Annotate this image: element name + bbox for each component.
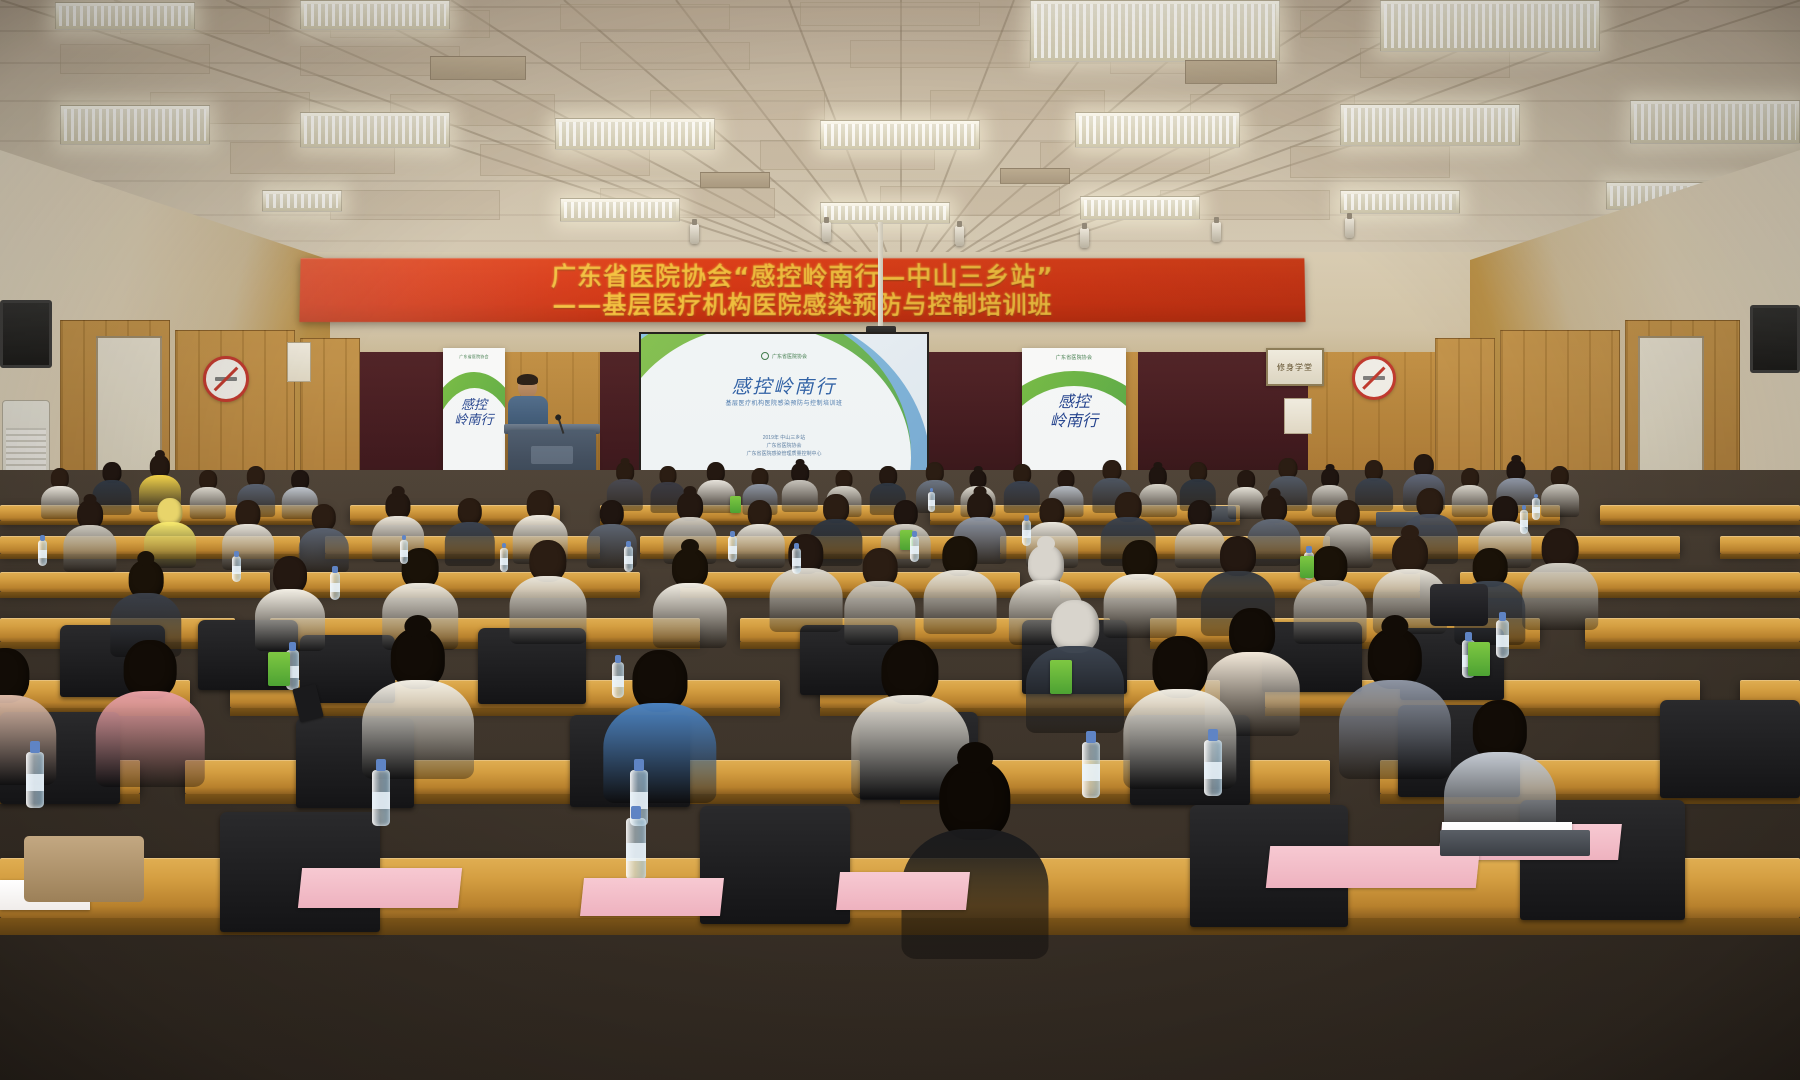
water-bottle <box>1082 742 1100 798</box>
bottle-label <box>928 500 935 506</box>
podium-emblem <box>531 446 573 464</box>
wall-monitor <box>1750 305 1800 373</box>
speaker-hair <box>517 374 538 385</box>
ceiling-vent <box>430 56 526 80</box>
spotlight <box>822 222 831 242</box>
person-torso <box>770 568 843 632</box>
bottle-label <box>624 556 633 564</box>
cigarette-icon <box>1363 376 1384 380</box>
ceiling-tile <box>580 42 750 70</box>
handout-paper[interactable] <box>298 868 462 908</box>
person-hair-bun <box>796 459 805 467</box>
screen-meta-2: 广东省医院协会 <box>746 442 821 450</box>
ceiling-light-panel <box>1380 0 1600 52</box>
bottle-cap <box>1024 515 1029 521</box>
desk <box>1720 536 1800 554</box>
screen-org-name: 广东省医院协会 <box>772 353 807 360</box>
juice-carton <box>268 652 290 686</box>
ceiling-light-panel <box>820 202 950 224</box>
person-hair-bun <box>974 466 983 473</box>
banner-line-1: 广东省医院协会“感控岭南行—中山三乡站” <box>551 264 1054 289</box>
spotlight <box>955 226 964 246</box>
bottle-label <box>1520 520 1528 527</box>
rollup-left-logo: 广东省医院协会 <box>459 354 488 360</box>
bottle-cap <box>234 551 239 557</box>
ceiling-light-panel <box>60 105 210 145</box>
wall-plaque: 修身学堂 <box>1266 348 1324 386</box>
water-bottle <box>1532 498 1540 520</box>
no-smoking-icon <box>1352 356 1396 400</box>
bottle-label <box>400 550 408 557</box>
main-red-banner: 广东省医院协会“感控岭南行—中山三乡站” ——基层医疗机构医院感染预防与控制培训… <box>299 258 1305 322</box>
bottle-cap <box>1208 729 1217 741</box>
water-bottle <box>1204 740 1222 796</box>
audience-member <box>1026 600 1124 740</box>
handout-paper[interactable] <box>836 872 970 910</box>
juice-carton <box>1050 660 1072 694</box>
person-torso <box>1541 484 1579 517</box>
bottle-cap <box>1499 612 1506 620</box>
desk-edge <box>1720 554 1800 559</box>
bottle-cap <box>634 759 643 771</box>
bottle-cap <box>332 566 337 572</box>
desk <box>1585 618 1800 642</box>
bottle-cap <box>730 531 735 537</box>
ceiling-light-panel <box>820 120 980 150</box>
laptop[interactable] <box>1440 830 1590 856</box>
bottle-cap <box>289 642 296 651</box>
water-bottle <box>1022 520 1031 546</box>
bottle-label <box>38 550 47 558</box>
bottle-label <box>728 546 737 554</box>
wall-monitor <box>0 300 52 368</box>
bottle-cap <box>631 806 641 820</box>
ceiling-vent <box>1000 168 1070 184</box>
juice-carton <box>1300 556 1314 578</box>
wall-notice <box>287 342 311 382</box>
bottle-label <box>1532 507 1540 514</box>
screen-meta-1: 2019年 中山三乡站 <box>746 434 821 442</box>
water-bottle <box>372 770 390 826</box>
water-bottle <box>928 492 935 512</box>
ceiling-tile <box>330 190 500 220</box>
person-hair-bun <box>137 551 154 566</box>
bottle-cap <box>1306 546 1311 552</box>
water-bottle <box>626 818 646 880</box>
rollup-right-title: 感控岭南行 <box>1050 392 1098 430</box>
ceiling-light-panel <box>1630 100 1800 144</box>
bottle-label <box>792 558 801 566</box>
ceiling-vent <box>700 172 770 188</box>
water-bottle <box>330 572 340 600</box>
bottle-cap <box>30 741 39 753</box>
audience-member <box>1522 528 1598 636</box>
water-bottle <box>1520 510 1528 534</box>
no-smoking-icon <box>203 356 249 402</box>
handbag[interactable] <box>24 836 144 902</box>
conference-hall-photo: 修身学堂 广东省医院协会“感控岭南行—中山三乡站” ——基层医疗机构医院感染预防… <box>0 0 1800 1080</box>
bottle-cap <box>1086 731 1095 743</box>
bottle-label <box>500 558 508 565</box>
desk-edge <box>1600 521 1800 525</box>
bottle-cap <box>626 541 631 547</box>
audience-member <box>653 548 727 654</box>
water-bottle <box>624 546 633 572</box>
banner-line-2: ——基层医疗机构医院感染预防与控制培训班 <box>552 292 1053 316</box>
chair[interactable] <box>1660 700 1800 798</box>
screen-org-logo: 广东省医院协会 <box>761 352 807 360</box>
water-bottle <box>612 662 624 698</box>
person-torso <box>844 581 915 644</box>
person-hair-bun <box>1268 488 1281 499</box>
water-bottle <box>500 548 508 572</box>
audience-member <box>96 640 205 795</box>
desk <box>300 572 640 592</box>
audience-member <box>1541 466 1579 520</box>
ceiling <box>0 0 1800 262</box>
person-hair-bun <box>957 742 993 772</box>
water-bottle <box>232 556 241 582</box>
water-bottle <box>400 540 408 564</box>
audience-member <box>255 556 325 656</box>
juice-carton <box>1468 642 1490 676</box>
screen-title: 感控岭南行 <box>731 372 836 399</box>
person-hair-bun <box>684 486 697 497</box>
desk-edge <box>300 592 640 598</box>
ceiling-light-panel <box>1030 0 1280 62</box>
audience-member <box>63 500 116 576</box>
bottle-label <box>1496 635 1509 646</box>
bottle-label <box>1022 530 1031 538</box>
juice-carton <box>730 496 741 513</box>
bottle-cap <box>1465 632 1472 640</box>
ceiling-vent <box>1185 60 1277 84</box>
person-torso <box>96 691 205 787</box>
bottle-label <box>1082 764 1100 781</box>
ceiling-tile <box>1360 48 1510 78</box>
ceiling-light-panel <box>555 118 715 150</box>
water-bottle <box>38 540 47 566</box>
wall-notice <box>1284 398 1312 434</box>
person-hair-bun <box>1511 455 1521 463</box>
spotlight <box>1212 222 1221 242</box>
ceiling-light-panel <box>1080 196 1200 220</box>
bottle-label <box>232 566 241 574</box>
bottle-cap <box>376 759 385 771</box>
cigarette-icon <box>215 377 237 381</box>
person-torso <box>1339 680 1451 779</box>
water-bottle <box>26 752 44 808</box>
desk <box>1600 505 1800 521</box>
bottle-label <box>1204 762 1222 779</box>
ceiling-light-panel <box>300 112 450 148</box>
bottle-cap <box>615 655 621 663</box>
ceiling-light-panel <box>1075 112 1240 148</box>
ceiling-light-panel <box>300 0 450 30</box>
association-logo-icon <box>761 352 769 360</box>
audience-member <box>510 540 587 650</box>
bottle-cap <box>912 531 917 537</box>
person-torso <box>1522 563 1598 630</box>
audience-member <box>902 760 1049 970</box>
bottle-cap <box>40 535 45 541</box>
water-bottle <box>1496 620 1509 658</box>
water-bottle <box>792 548 801 574</box>
person-torso <box>1026 646 1124 733</box>
desk-edge <box>1585 642 1800 649</box>
water-bottle <box>910 536 919 562</box>
bottle-label <box>26 774 44 791</box>
screen-meta-3: 广东省医院感染管理质量控制中心 <box>746 450 821 458</box>
person-hair-bun <box>155 450 165 459</box>
audience-member <box>770 534 843 638</box>
person-torso <box>63 525 116 572</box>
bottle-label <box>910 546 919 554</box>
screen-subtitle: 基层医疗机构医院感染预防与控制培训班 <box>725 398 842 407</box>
person-torso <box>653 583 727 649</box>
spotlight <box>1080 228 1089 248</box>
person-torso <box>603 703 716 803</box>
person-hair-bun <box>392 486 405 497</box>
person-hair-bun <box>974 486 987 497</box>
ceiling-light-panel <box>560 198 680 222</box>
person-hair-bun <box>1153 462 1162 470</box>
bottle-label <box>330 583 340 591</box>
ceiling-light-panel <box>1340 104 1520 146</box>
desk <box>185 760 860 794</box>
person-torso <box>510 576 587 644</box>
bottle-label <box>372 792 390 809</box>
ceiling-light-panel <box>1340 190 1460 214</box>
handout-paper[interactable] <box>580 878 724 916</box>
person-hair-bun <box>84 494 97 505</box>
ceiling-tile <box>850 40 1030 68</box>
person-hair-bun <box>1326 464 1335 472</box>
ceiling-tile <box>1290 146 1450 178</box>
ceiling-tile <box>60 44 210 74</box>
spotlight <box>1345 218 1354 238</box>
chair[interactable] <box>700 806 850 924</box>
bottle-label <box>612 676 624 687</box>
audience-member <box>844 548 915 650</box>
projector-mount-pole <box>878 222 883 328</box>
spotlight <box>690 224 699 244</box>
person-hair-bun <box>621 458 630 466</box>
ceiling-tile <box>560 4 730 30</box>
rollup-right-logo: 广东省医院协会 <box>1056 354 1092 361</box>
bottle-label <box>626 843 646 862</box>
rollup-left-title: 感控岭南行 <box>454 398 493 428</box>
bottle-cap <box>794 543 799 549</box>
ceiling-tile <box>650 90 825 120</box>
ceiling-tile <box>800 2 980 26</box>
ceiling-light-panel <box>262 190 342 212</box>
water-bottle <box>728 536 737 562</box>
backpack[interactable] <box>1430 584 1488 626</box>
desk-edge <box>185 794 860 804</box>
ceiling-light-panel <box>55 2 195 30</box>
person-torso <box>924 570 997 634</box>
audience-member <box>924 536 997 640</box>
audience-member <box>1339 628 1451 788</box>
